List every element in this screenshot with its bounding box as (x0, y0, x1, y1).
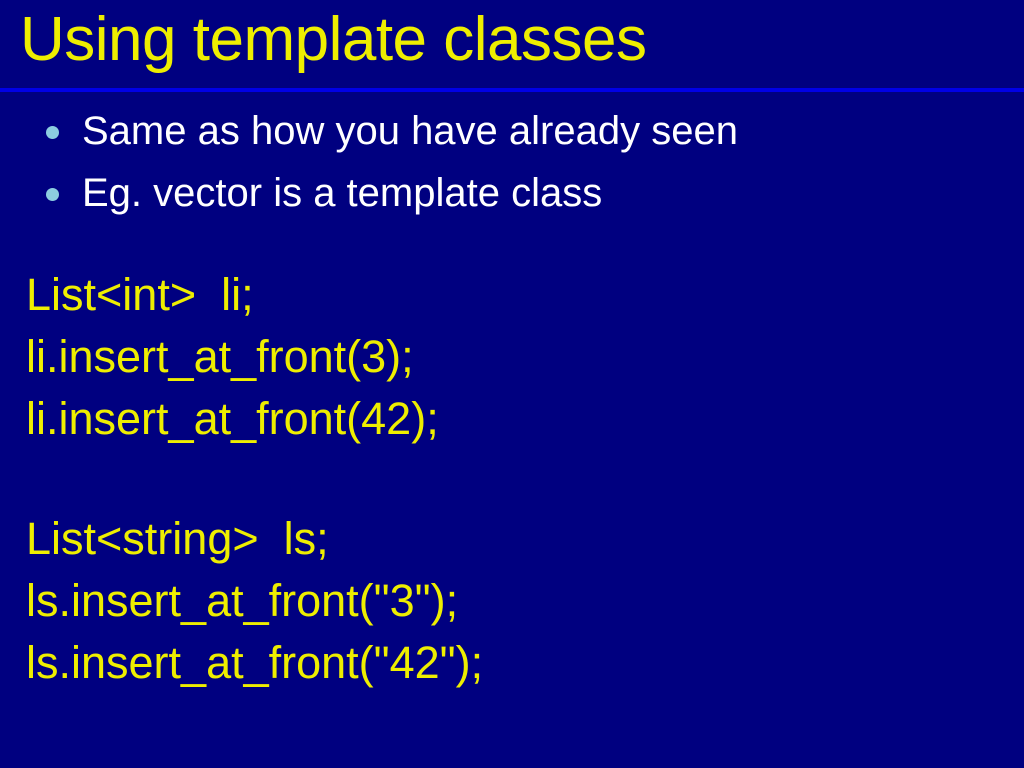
list-item: Eg. vector is a template class (0, 166, 1024, 228)
bullet-item-label: Same as how you have already seen (82, 104, 738, 158)
slide-title-area: Using template classes (0, 0, 1024, 89)
code-line: ls.insert_at_front("42"); (0, 632, 1024, 694)
code-body: List<int> li; li.insert_at_front(3); li.… (0, 264, 1024, 694)
code-block-separator (0, 450, 1024, 508)
bullet-dot-icon (46, 188, 59, 201)
code-line: li.insert_at_front(42); (0, 388, 1024, 450)
bullet-item-label: Eg. vector is a template class (82, 166, 602, 220)
code-block-string-list: List<string> ls; ls.insert_at_front("3")… (0, 508, 1024, 694)
bullet-list: Same as how you have already seen Eg. ve… (0, 104, 1024, 228)
title-divider-rule (0, 88, 1024, 92)
code-line: li.insert_at_front(3); (0, 326, 1024, 388)
code-line: List<string> ls; (0, 508, 1024, 570)
list-item: Same as how you have already seen (0, 104, 1024, 166)
bullet-dot-icon (46, 126, 59, 139)
page-title: Using template classes (20, 2, 647, 78)
slide-canvas: Using template classes Same as how you h… (0, 0, 1024, 768)
code-line: List<int> li; (0, 264, 1024, 326)
code-block-int-list: List<int> li; li.insert_at_front(3); li.… (0, 264, 1024, 450)
code-line: ls.insert_at_front("3"); (0, 570, 1024, 632)
